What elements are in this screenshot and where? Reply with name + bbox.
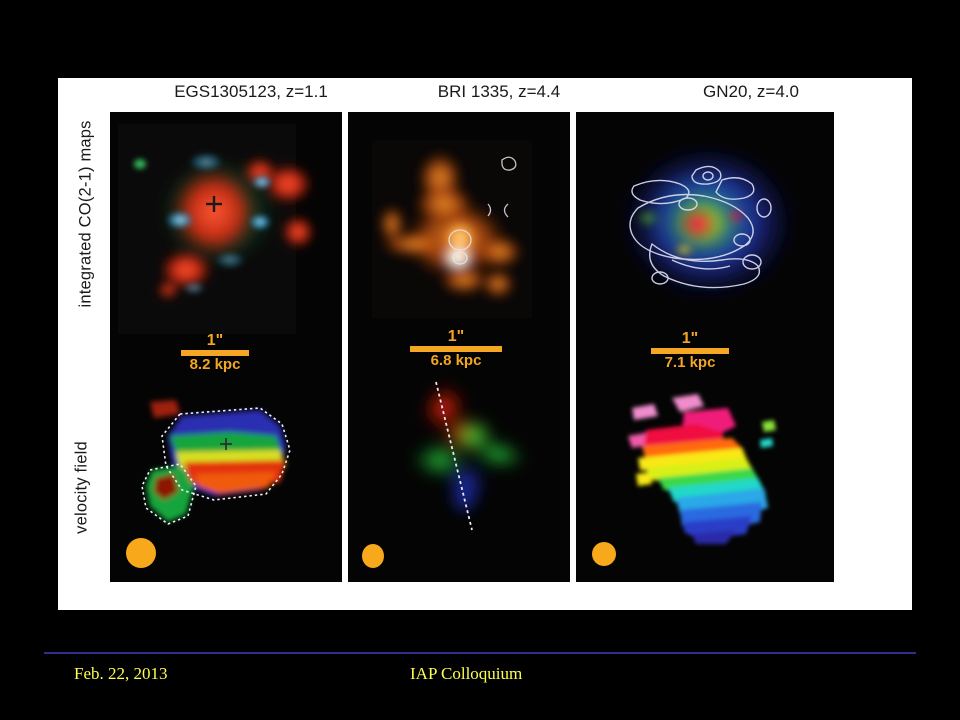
- row-label-velocity-field: velocity field: [73, 398, 92, 578]
- velocity-field-bri1335: [348, 374, 570, 582]
- scalebar-bri1335: 1" 6.8 kpc: [396, 330, 516, 369]
- image-panels: 1" 8.2 kpc: [110, 112, 908, 582]
- scalebar-angular-label: 1": [396, 330, 516, 344]
- figure-card: integrated CO(2-1) maps velocity field E…: [58, 78, 912, 610]
- footer: Feb. 22, 2013 IAP Colloquium: [0, 660, 960, 700]
- column-title-egs1305123: EGS1305123, z=1.1: [106, 82, 396, 102]
- footer-title: IAP Colloquium: [410, 664, 522, 684]
- footer-date: Feb. 22, 2013: [74, 664, 168, 684]
- beam-ellipse-gn20: [592, 542, 616, 566]
- co-map-bri1335: 1" 6.8 kpc: [348, 112, 570, 374]
- scalebar-egs1305123: 1" 8.2 kpc: [160, 334, 270, 373]
- co-map-gn20: 1" 7.1 kpc: [576, 112, 834, 374]
- scalebar-angular-label: 1": [632, 332, 748, 346]
- row-label-column: integrated CO(2-1) maps velocity field: [58, 78, 106, 610]
- panel-egs1305123: 1" 8.2 kpc: [110, 112, 342, 582]
- column-title-bri1335: BRI 1335, z=4.4: [374, 82, 624, 102]
- scalebar-physical-label: 8.2 kpc: [160, 357, 270, 373]
- scalebar-physical-label: 6.8 kpc: [396, 353, 516, 369]
- scalebar-gn20: 1" 7.1 kpc: [632, 332, 748, 371]
- footer-divider: [44, 652, 916, 654]
- column-titles: EGS1305123, z=1.1 BRI 1335, z=4.4 GN20, …: [106, 78, 912, 112]
- beam-ellipse-bri1335: [362, 544, 384, 568]
- beam-ellipse-egs1305123: [126, 538, 156, 568]
- scalebar-angular-label: 1": [160, 334, 270, 348]
- panel-gn20: 1" 7.1 kpc: [576, 112, 834, 582]
- row-label-co-maps: integrated CO(2-1) maps: [77, 128, 96, 308]
- velocity-field-egs1305123: [110, 374, 342, 582]
- panel-bri1335: 1" 6.8 kpc: [348, 112, 570, 582]
- scalebar-physical-label: 7.1 kpc: [632, 355, 748, 371]
- column-title-gn20: GN20, z=4.0: [606, 82, 896, 102]
- co-map-egs1305123: 1" 8.2 kpc: [110, 112, 342, 374]
- velocity-field-gn20: [576, 374, 834, 582]
- slide: integrated CO(2-1) maps velocity field E…: [0, 0, 960, 720]
